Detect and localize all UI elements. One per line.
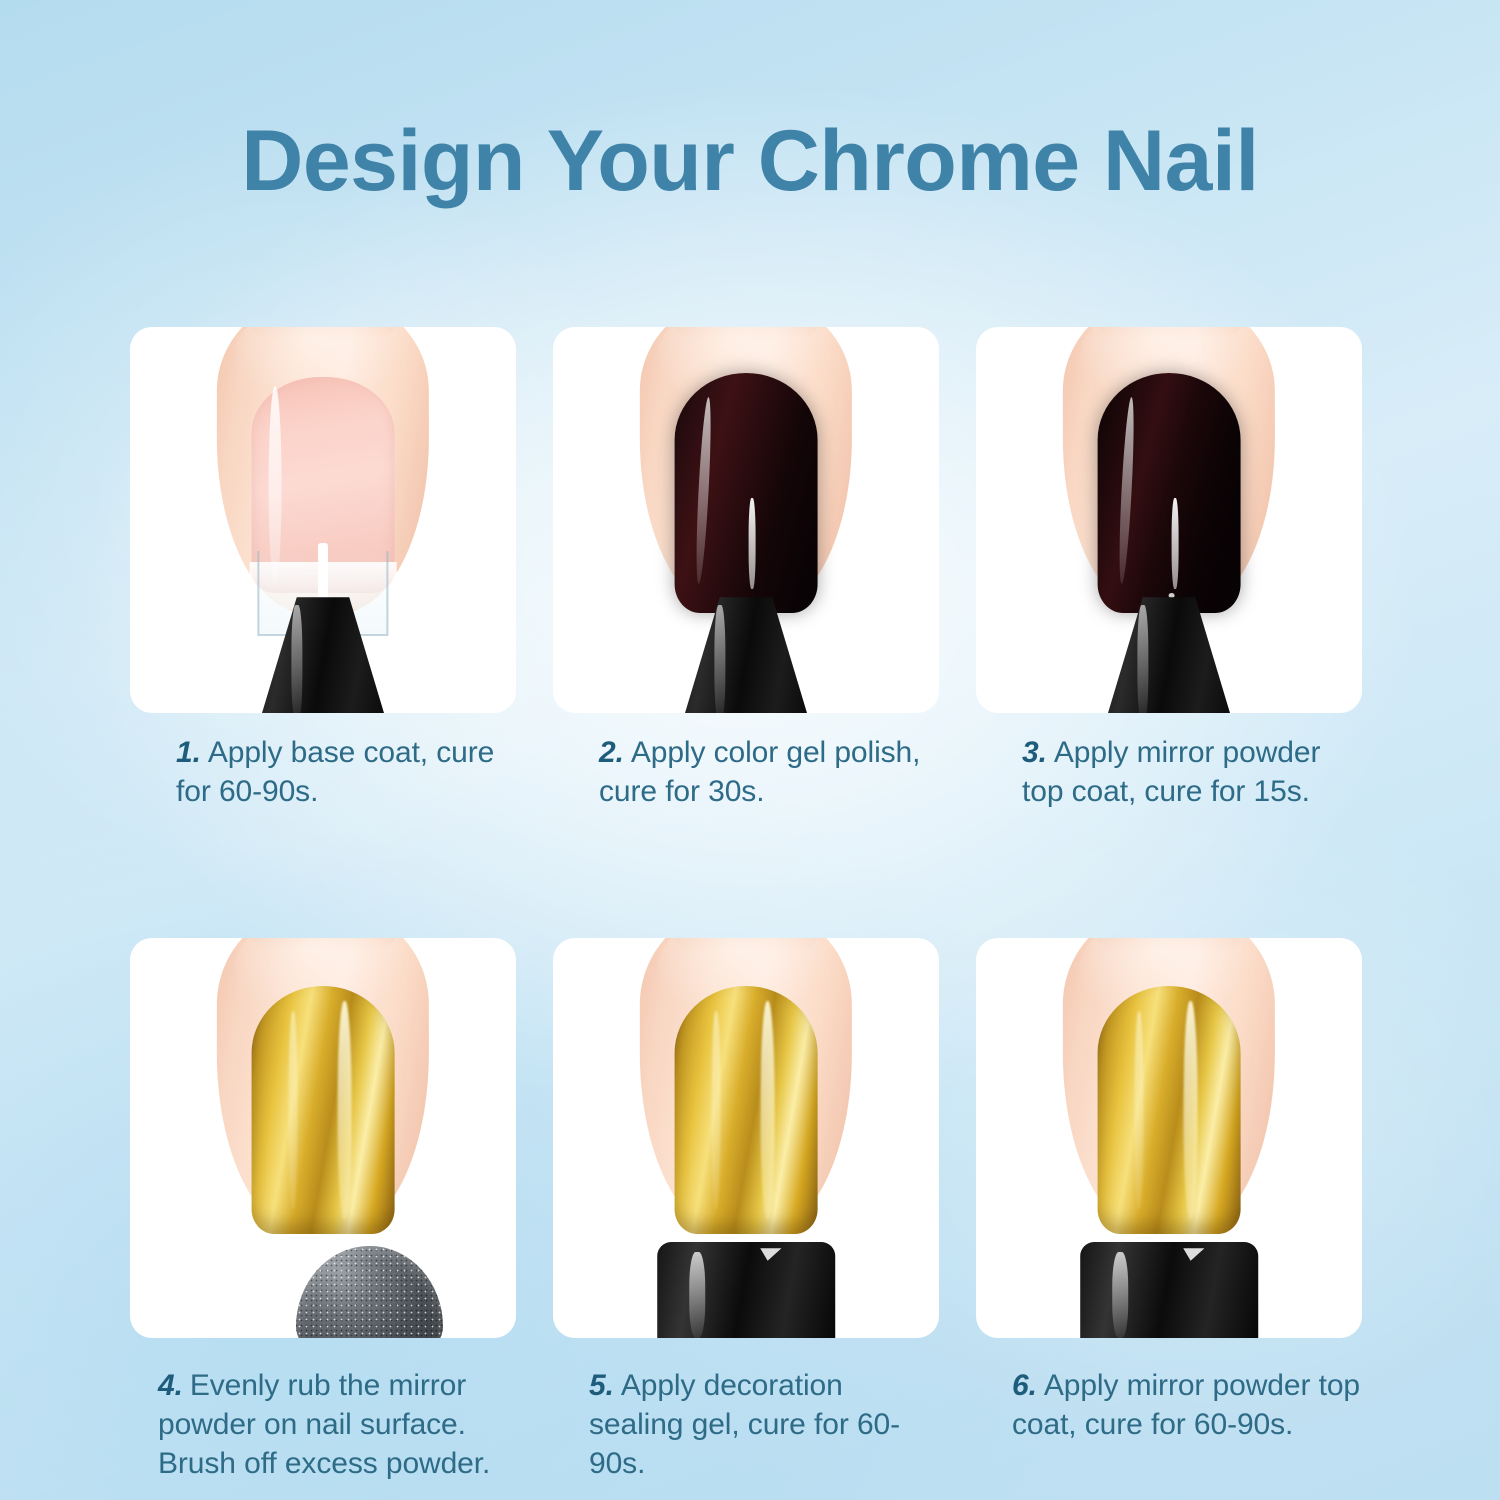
step-image-2 xyxy=(553,327,939,713)
step-caption-3: 3.Apply mirror powder top coat, cure for… xyxy=(976,733,1362,811)
steps-row-2: 4.Evenly rub the mirror powder on nail s… xyxy=(130,938,1362,1483)
dark-gel-polish-nail xyxy=(675,373,818,612)
nail-illustration-final-top-coat xyxy=(976,938,1362,1338)
gold-highlight-secondary xyxy=(1135,1011,1144,1209)
step-number-2: 2. xyxy=(599,736,624,769)
page-title: Design Your Chrome Nail xyxy=(0,116,1500,206)
step-number-3: 3. xyxy=(1022,736,1047,769)
step-image-4 xyxy=(130,938,516,1338)
nail-illustration-rub-powder xyxy=(130,938,516,1338)
tutorial-page: Design Your Chrome Nail xyxy=(0,0,1500,1500)
steps-row-1: 1.Apply base coat, cure for 60-90s. xyxy=(130,327,1362,811)
step-image-5 xyxy=(553,938,939,1338)
step-image-3 xyxy=(976,327,1362,713)
row-spacer xyxy=(130,811,1362,938)
gloss-highlight-left xyxy=(1117,397,1137,584)
nail-illustration-sealing-gel xyxy=(553,938,939,1338)
step-number-4: 4. xyxy=(158,1369,183,1402)
knuckle-shade xyxy=(674,327,818,350)
gloss-highlight-center xyxy=(1172,498,1179,589)
gold-highlight-primary xyxy=(1183,1001,1197,1219)
step-text-1: Apply base coat, cure for 60-90s. xyxy=(176,736,494,808)
brush-highlight xyxy=(760,1248,781,1260)
step-item-2: 2.Apply color gel polish, cure for 30s. xyxy=(553,327,939,811)
step-item-1: 1.Apply base coat, cure for 60-90s. xyxy=(130,327,516,811)
gloss-highlight-left xyxy=(694,397,714,584)
gold-highlight-primary xyxy=(760,1001,774,1219)
step-item-6: 6.Apply mirror powder top coat, cure for… xyxy=(976,938,1362,1483)
color-gel-brush xyxy=(680,597,811,713)
step-text-3: Apply mirror powder top coat, cure for 1… xyxy=(1022,736,1320,808)
nail-illustration-mirror-top-coat xyxy=(976,327,1362,713)
step-item-4: 4.Evenly rub the mirror powder on nail s… xyxy=(130,938,516,1483)
nail-illustration-color-gel xyxy=(553,327,939,713)
brush-highlight xyxy=(1183,1248,1204,1260)
sealing-gel-brush xyxy=(657,1242,835,1338)
steps-grid: 1.Apply base coat, cure for 60-90s. xyxy=(130,327,1362,1483)
step-text-4: Evenly rub the mirror powder on nail sur… xyxy=(158,1369,490,1480)
step-image-1 xyxy=(130,327,516,713)
step-number-1: 1. xyxy=(176,736,201,769)
step-caption-4: 4.Evenly rub the mirror powder on nail s… xyxy=(130,1366,516,1483)
knuckle-shade xyxy=(674,938,818,962)
knuckle-shade xyxy=(1097,327,1241,350)
knuckle-shade xyxy=(1097,938,1241,962)
gold-highlight-primary xyxy=(337,1001,351,1219)
step-text-2: Apply color gel polish, cure for 30s. xyxy=(599,736,920,808)
step-item-5: 5.Apply decoration sealing gel, cure for… xyxy=(553,938,939,1483)
knuckle-shade xyxy=(251,327,395,350)
gold-highlight-secondary xyxy=(712,1011,721,1209)
step-text-6: Apply mirror powder top coat, cure for 6… xyxy=(1012,1369,1360,1441)
top-coat-brush xyxy=(1103,597,1234,713)
step-caption-1: 1.Apply base coat, cure for 60-90s. xyxy=(130,733,516,811)
gold-highlight-secondary xyxy=(289,1011,298,1209)
gloss-highlight-center xyxy=(749,498,756,589)
step-caption-5: 5.Apply decoration sealing gel, cure for… xyxy=(553,1366,939,1483)
step-caption-2: 2.Apply color gel polish, cure for 30s. xyxy=(553,733,939,811)
top-coat-brush xyxy=(1080,1242,1258,1338)
gold-chrome-nail xyxy=(1098,986,1241,1234)
mirror-top-coat-nail xyxy=(1098,373,1241,612)
step-number-5: 5. xyxy=(589,1369,614,1402)
powder-sponge-applicator xyxy=(296,1246,443,1338)
step-item-3: 3.Apply mirror powder top coat, cure for… xyxy=(976,327,1362,811)
gold-chrome-nail xyxy=(675,986,818,1234)
knuckle-shade xyxy=(251,938,395,962)
nail-illustration-base-coat xyxy=(130,327,516,713)
step-number-6: 6. xyxy=(1012,1369,1037,1402)
step-image-6 xyxy=(976,938,1362,1338)
gold-chrome-nail xyxy=(252,986,395,1234)
step-caption-6: 6.Apply mirror powder top coat, cure for… xyxy=(976,1366,1362,1444)
step-text-5: Apply decoration sealing gel, cure for 6… xyxy=(589,1369,900,1480)
